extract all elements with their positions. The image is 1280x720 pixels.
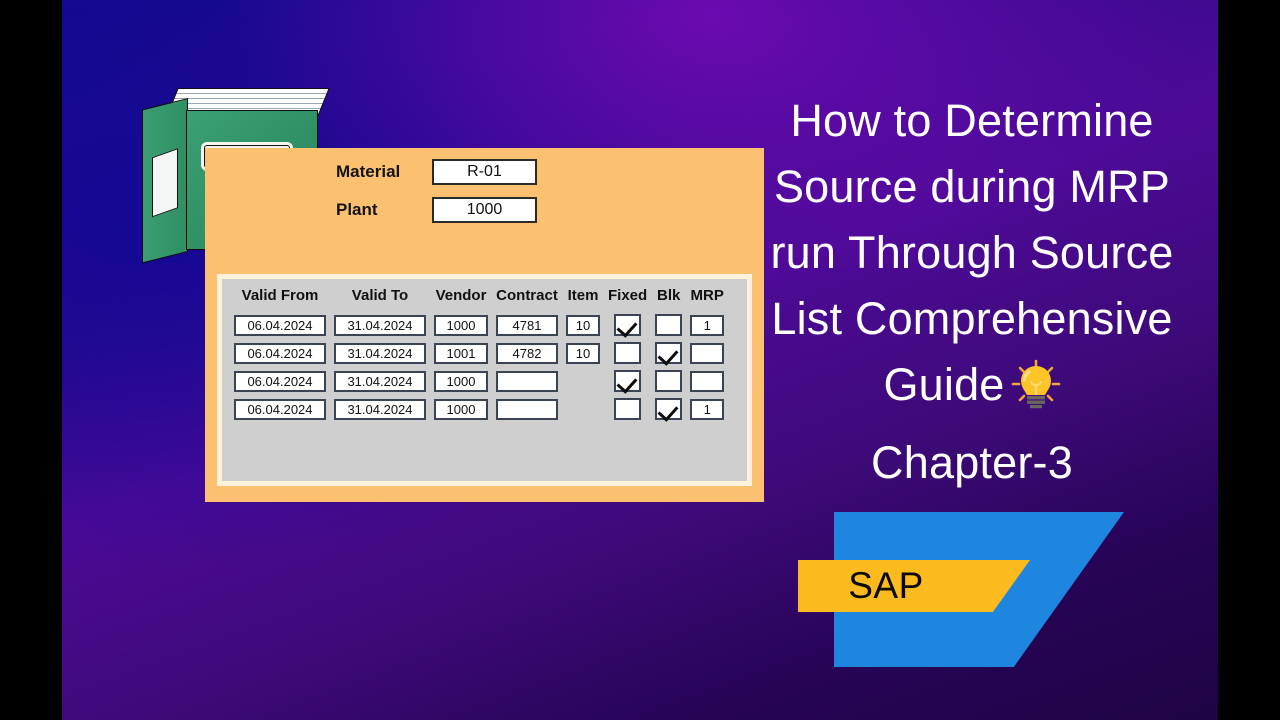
cell-item xyxy=(566,371,600,392)
form-row-plant: Plant 1000 xyxy=(336,194,537,226)
cell-item[interactable]: 10 xyxy=(566,343,600,364)
lightbulb-icon xyxy=(1009,358,1063,430)
book-spine xyxy=(142,98,188,263)
slide-content: Source List Material R-01 Plant 1000 xyxy=(62,0,1218,720)
cell-valid-to[interactable]: 31.04.2024 xyxy=(334,315,426,336)
cell-item xyxy=(566,399,600,420)
sap-logo: SAP xyxy=(834,512,1124,667)
checkbox-fixed[interactable] xyxy=(614,398,641,420)
checkbox-blk[interactable] xyxy=(655,398,682,420)
title-line-5: Guide xyxy=(722,352,1218,430)
cell-vendor[interactable]: 1000 xyxy=(434,315,488,336)
cell-contract[interactable] xyxy=(496,371,558,392)
material-label: Material xyxy=(336,162,432,182)
cell-valid-from[interactable]: 06.04.2024 xyxy=(234,371,326,392)
cell-valid-to[interactable]: 31.04.2024 xyxy=(334,399,426,420)
table-header-row: Valid From Valid To Vendor Contract Item… xyxy=(230,287,728,311)
material-input[interactable]: R-01 xyxy=(432,159,537,185)
title-line-6: Chapter-3 xyxy=(722,430,1218,496)
checkbox-blk[interactable] xyxy=(655,370,682,392)
table-row: 06.04.2024 31.04.2024 1000 xyxy=(230,367,728,395)
cell-valid-from[interactable]: 06.04.2024 xyxy=(234,399,326,420)
column-header-contract: Contract xyxy=(492,287,562,311)
header-form: Material R-01 Plant 1000 xyxy=(336,156,537,232)
sap-logo-yellow-banner: SAP xyxy=(798,560,1030,612)
letterbox-left xyxy=(0,0,62,720)
title-line-3: run Through Source xyxy=(722,220,1218,286)
title-line-4: List Comprehensive xyxy=(722,286,1218,352)
title-line-1: How to Determine xyxy=(722,88,1218,154)
source-list-table-container: Valid From Valid To Vendor Contract Item… xyxy=(217,274,752,486)
cell-vendor[interactable]: 1001 xyxy=(434,343,488,364)
cell-vendor[interactable]: 1000 xyxy=(434,371,488,392)
form-row-material: Material R-01 xyxy=(336,156,537,188)
column-header-blk: Blk xyxy=(651,287,686,311)
checkbox-blk[interactable] xyxy=(655,314,682,336)
letterbox-right xyxy=(1218,0,1280,720)
column-header-vendor: Vendor xyxy=(430,287,492,311)
title-line-5-text: Guide xyxy=(883,359,1004,410)
table-row: 06.04.2024 31.04.2024 1000 1 xyxy=(230,395,728,423)
plant-input[interactable]: 1000 xyxy=(432,197,537,223)
cell-mrp[interactable]: 1 xyxy=(690,315,724,336)
table-row: 06.04.2024 31.04.2024 1001 4782 10 xyxy=(230,339,728,367)
video-title: How to Determine Source during MRP run T… xyxy=(722,88,1218,496)
plant-label: Plant xyxy=(336,200,432,220)
table-row: 06.04.2024 31.04.2024 1000 4781 10 1 xyxy=(230,311,728,339)
cell-valid-to[interactable]: 31.04.2024 xyxy=(334,343,426,364)
sap-logo-text: SAP xyxy=(798,565,974,607)
column-header-item: Item xyxy=(562,287,604,311)
cell-vendor[interactable]: 1000 xyxy=(434,399,488,420)
book-spine-label xyxy=(152,148,178,217)
cell-valid-from[interactable]: 06.04.2024 xyxy=(234,343,326,364)
checkbox-fixed[interactable] xyxy=(614,314,641,336)
column-header-fixed: Fixed xyxy=(604,287,651,311)
cell-contract[interactable] xyxy=(496,399,558,420)
checkbox-fixed[interactable] xyxy=(614,342,641,364)
checkbox-fixed[interactable] xyxy=(614,370,641,392)
video-thumbnail: Source List Material R-01 Plant 1000 xyxy=(0,0,1280,720)
cell-mrp[interactable] xyxy=(690,371,724,392)
cell-contract[interactable]: 4782 xyxy=(496,343,558,364)
cell-mrp[interactable]: 1 xyxy=(690,399,724,420)
title-line-2: Source during MRP xyxy=(722,154,1218,220)
cell-valid-from[interactable]: 06.04.2024 xyxy=(234,315,326,336)
checkbox-blk[interactable] xyxy=(655,342,682,364)
column-header-valid-to: Valid To xyxy=(330,287,430,311)
column-header-valid-from: Valid From xyxy=(230,287,330,311)
cell-contract[interactable]: 4781 xyxy=(496,315,558,336)
source-list-table: Valid From Valid To Vendor Contract Item… xyxy=(230,287,728,423)
source-list-panel: Material R-01 Plant 1000 Valid From Vali… xyxy=(205,148,764,502)
cell-item[interactable]: 10 xyxy=(566,315,600,336)
cell-mrp[interactable] xyxy=(690,343,724,364)
cell-valid-to[interactable]: 31.04.2024 xyxy=(334,371,426,392)
